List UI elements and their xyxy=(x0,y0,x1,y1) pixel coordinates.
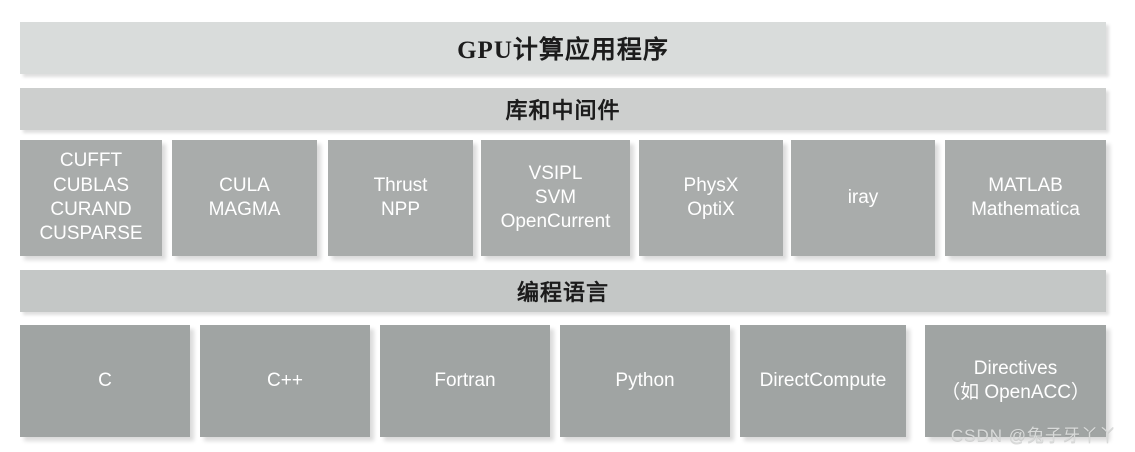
language-card-python[interactable]: Python xyxy=(560,325,730,437)
gpu-computing-stack-diagram: GPU计算应用程序 库和中间件 CUFFT CUBLAS CURAND CUSP… xyxy=(0,0,1135,452)
language-card-label: C xyxy=(98,369,112,393)
library-card-label: CUFFT CUBLAS CURAND CUSPARSE xyxy=(39,149,142,246)
language-card-directcompute[interactable]: DirectCompute xyxy=(740,325,906,437)
library-card-cuda-math-libs[interactable]: CUFFT CUBLAS CURAND CUSPARSE xyxy=(20,140,162,256)
banner-gpu-computing-applications: GPU计算应用程序 xyxy=(20,22,1106,74)
banner-applications-label: GPU计算应用程序 xyxy=(457,30,669,66)
library-card-label: PhysX OptiX xyxy=(684,174,739,223)
library-card-physx-optix[interactable]: PhysX OptiX xyxy=(639,140,783,256)
banner-programming-languages: 编程语言 xyxy=(20,270,1106,312)
library-card-iray[interactable]: iray xyxy=(791,140,935,256)
library-card-label: VSIPL SVM OpenCurrent xyxy=(501,162,611,235)
library-card-label: CULA MAGMA xyxy=(209,174,281,223)
language-card-c[interactable]: C xyxy=(20,325,190,437)
csdn-watermark: CSDN @兔子牙丫丫 xyxy=(951,421,1117,446)
library-card-label: iray xyxy=(848,186,879,210)
library-card-vsipl-svm-opencurrent[interactable]: VSIPL SVM OpenCurrent xyxy=(481,140,630,256)
language-card-label: Fortran xyxy=(434,369,495,393)
language-card-label: C++ xyxy=(267,369,303,393)
language-card-fortran[interactable]: Fortran xyxy=(380,325,550,437)
language-card-label: Directives （如 OpenACC） xyxy=(941,357,1090,406)
language-card-cpp[interactable]: C++ xyxy=(200,325,370,437)
library-card-label: MATLAB Mathematica xyxy=(971,174,1080,223)
language-card-label: DirectCompute xyxy=(760,369,887,393)
libraries-card-row: CUFFT CUBLAS CURAND CUSPARSE CULA MAGMA … xyxy=(0,140,1135,256)
library-card-cula-magma[interactable]: CULA MAGMA xyxy=(172,140,317,256)
banner-libraries-label: 库和中间件 xyxy=(505,93,620,125)
library-card-label: Thrust NPP xyxy=(374,174,428,223)
library-card-matlab-mathematica[interactable]: MATLAB Mathematica xyxy=(945,140,1106,256)
banner-libraries-and-middleware: 库和中间件 xyxy=(20,88,1106,130)
language-card-label: Python xyxy=(615,369,674,393)
library-card-thrust-npp[interactable]: Thrust NPP xyxy=(328,140,473,256)
banner-languages-label: 编程语言 xyxy=(517,275,609,307)
